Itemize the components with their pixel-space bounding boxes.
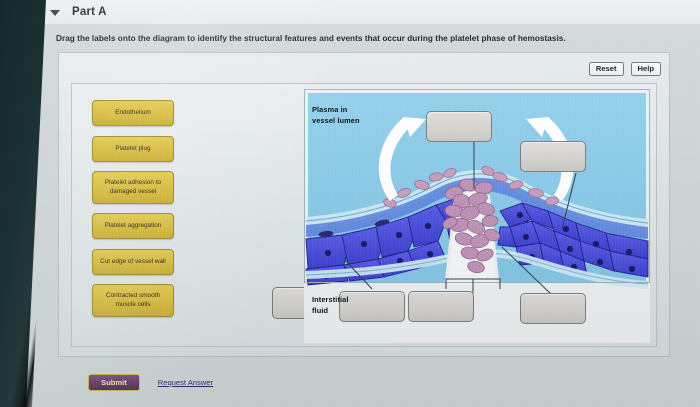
drag-label-endothelium[interactable]: Endothelium [92, 100, 174, 126]
drop-target-top-right[interactable] [520, 141, 586, 172]
help-button[interactable]: Help [631, 62, 661, 76]
interstitial-fluid-label: Interstitial fluid [312, 295, 349, 316]
question-panel: Reset Help Endothelium Platelet plug Pla… [58, 52, 670, 357]
drag-label-contracted-smooth-muscle[interactable]: Contracted smooth muscle cells [92, 284, 174, 317]
drop-target-bottom-center[interactable] [408, 291, 474, 322]
plasma-label: Plasma in vessel lumen [312, 105, 360, 126]
screen-content: Part A Drag the labels onto the diagram … [0, 0, 700, 407]
submit-button[interactable]: Submit [88, 374, 140, 391]
reset-button[interactable]: Reset [589, 62, 624, 76]
drag-label-platelet-aggregation[interactable]: Platelet aggregation [92, 213, 174, 239]
page-title: Part A [72, 6, 107, 18]
toolbar: Reset Help [589, 62, 661, 76]
triangle-down-icon[interactable] [50, 10, 60, 16]
label-bank: Endothelium Platelet plug Platelet adhes… [92, 100, 174, 317]
request-answer-link[interactable]: Request Answer [158, 378, 213, 387]
drop-target-top-center[interactable] [426, 111, 492, 142]
hemostasis-diagram: Plasma in vessel lumen Interstitial flui… [304, 89, 650, 343]
activity-panel: Endothelium Platelet plug Platelet adhes… [71, 83, 657, 347]
part-header: Part A [34, 0, 700, 24]
drag-label-platelet-plug[interactable]: Platelet plug [92, 136, 174, 162]
drop-target-bottom-right[interactable] [520, 293, 586, 324]
drag-label-platelet-adhesion[interactable]: Platelet adhesion to damaged vessel [92, 171, 174, 204]
footer: Submit Request Answer [88, 374, 213, 391]
instruction-text: Drag the labels onto the diagram to iden… [56, 34, 666, 43]
drop-target-bottom-left[interactable] [339, 291, 405, 322]
drag-label-cut-edge[interactable]: Cut edge of vessel wall [92, 249, 174, 275]
